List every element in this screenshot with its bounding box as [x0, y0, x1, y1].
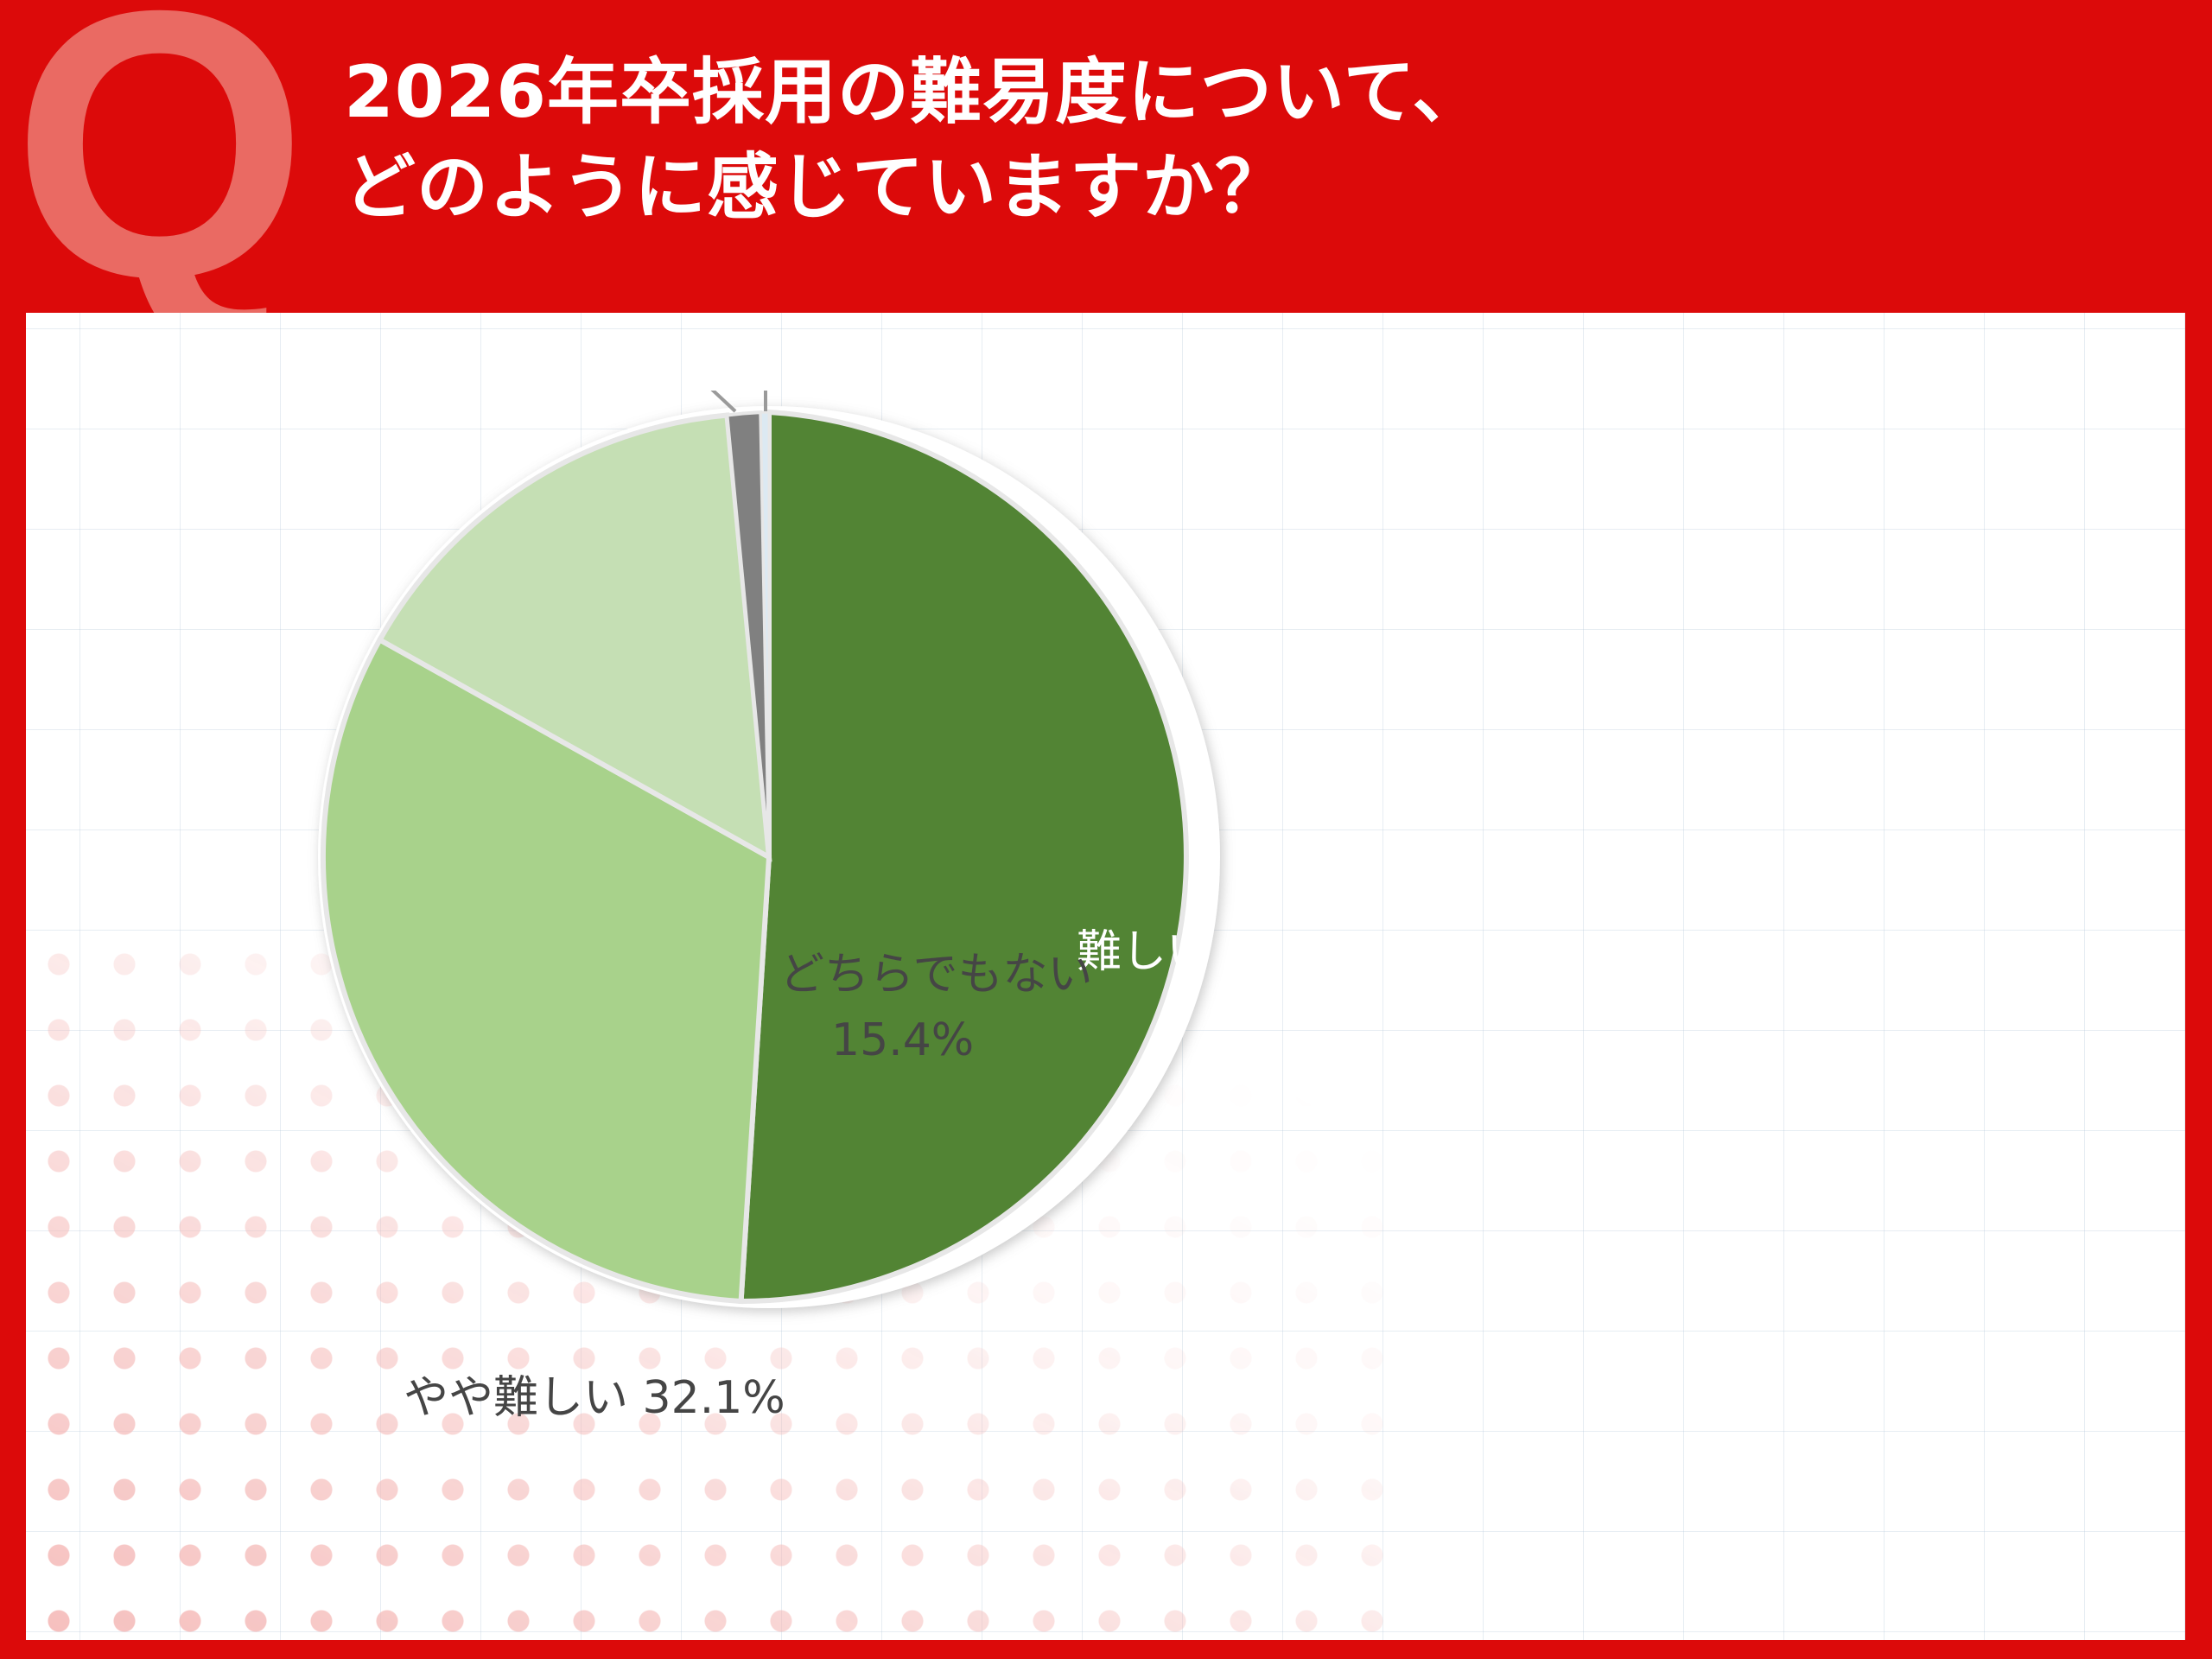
q-badge-watermark: Q	[12, 0, 299, 313]
pie-chart: 難しい 51.0% やや難しい 32.1% どちらでもない 15.4% やや易し…	[26, 313, 2185, 1640]
title-line-2: どのように感じていますか？	[344, 140, 1986, 235]
page-title: 2026年卒採用の難易度について、 どのように感じていますか？	[344, 45, 1986, 236]
pie-label-muzukashii: 難しい 51.0%	[1077, 915, 1369, 980]
question-header: Q 2026年卒採用の難易度について、 どのように感じていますか？	[0, 0, 2212, 313]
pie-label-dochira-demo-nai-value: 15.4%	[831, 1014, 974, 1066]
red-frame: Q 2026年卒採用の難易度について、 どのように感じていますか？	[0, 0, 2212, 1659]
title-line-1: 2026年卒採用の難易度について、	[344, 45, 1986, 140]
pie-label-dochira-demo-nai-name: どちらでもない	[779, 938, 1092, 1002]
leader-line-yaya-yasashii	[515, 391, 735, 411]
pie-label-yaya-muzukashii: やや難しい 32.1%	[404, 1361, 785, 1426]
pie-slice-muzukashii[interactable]	[741, 412, 1186, 1301]
content-panel: 難しい 51.0% やや難しい 32.1% どちらでもない 15.4% やや易し…	[26, 313, 2185, 1640]
